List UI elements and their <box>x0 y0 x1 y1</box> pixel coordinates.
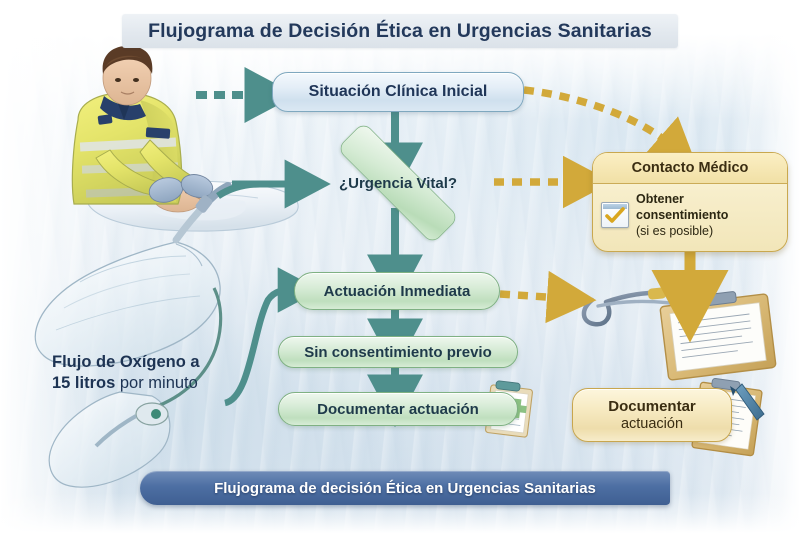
node-situacion-clinica-inicial[interactable]: Situación Clínica Inicial <box>272 72 524 112</box>
node-label: Actuación Inmediata <box>324 283 471 300</box>
card-contacto-medico[interactable]: Contacto Médico Obtener consentimiento (… <box>592 152 788 252</box>
caption-line1: Flujo de Oxígeno a <box>52 352 267 373</box>
checkbox-checked-icon <box>601 202 629 228</box>
card-body-text: Obtener consentimiento (si es posible) <box>636 191 728 239</box>
background-right-fade <box>730 0 800 533</box>
node-urgencia-vital-decision[interactable]: ¿Urgencia Vital? <box>302 156 494 210</box>
node-sin-consentimiento-previo[interactable]: Sin consentimiento previo <box>278 336 518 368</box>
card-header: Contacto Médico <box>593 153 787 184</box>
footer-banner-label: Flujograma de decisión Ética en Urgencia… <box>140 471 670 505</box>
node-label: Sin consentimiento previo <box>304 344 492 361</box>
infographic-canvas: Flujograma de Decisión Ética en Urgencia… <box>0 0 800 533</box>
card-body-line2: consentimiento <box>636 207 728 223</box>
caption-per-minute: por minuto <box>115 374 198 392</box>
card-line2: actuación <box>621 416 683 432</box>
node-label: ¿Urgencia Vital? <box>302 156 494 210</box>
page-title-text: Flujograma de Decisión Ética en Urgencia… <box>148 20 652 43</box>
card-body-line1: Obtener <box>636 191 728 207</box>
footer-banner: Flujograma de decisión Ética en Urgencia… <box>140 471 670 505</box>
card-line1: Documentar <box>608 398 696 415</box>
node-label: Situación Clínica Inicial <box>309 83 488 101</box>
page-title: Flujograma de Decisión Ética en Urgencia… <box>122 14 678 48</box>
oxygen-flow-caption: Flujo de Oxígeno a 15 litros por minuto <box>52 352 267 395</box>
node-actuacion-inmediata[interactable]: Actuación Inmediata <box>294 272 500 310</box>
background-left-fade <box>0 0 120 533</box>
node-label: Documentar actuación <box>317 401 479 418</box>
caption-liters-value: 15 litros <box>52 374 115 392</box>
check-mark-icon <box>605 207 625 224</box>
card-body-line3: (si es posible) <box>636 223 728 239</box>
card-header-label: Contacto Médico <box>632 160 749 176</box>
card-body: Obtener consentimiento (si es posible) <box>593 184 787 245</box>
caption-line2: 15 litros por minuto <box>52 373 267 394</box>
card-documentar-actuacion[interactable]: Documentar actuación <box>572 388 732 442</box>
node-documentar-actuacion[interactable]: Documentar actuación <box>278 392 518 426</box>
